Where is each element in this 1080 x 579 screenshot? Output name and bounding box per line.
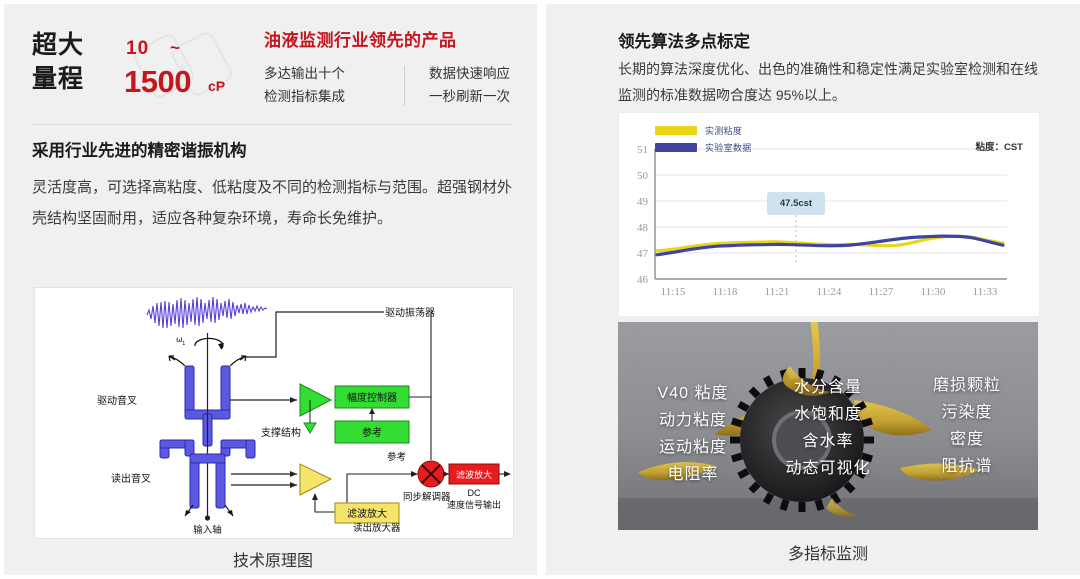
svg-text:11:18: 11:18 (713, 286, 738, 298)
sync-demodulator-label: 同步解调器 (403, 491, 451, 503)
product-tagline: 油液监测行业领先的产品 (264, 26, 544, 51)
legend-item-measured: 实测粘度 (655, 123, 752, 137)
overlay-c1-item-2: 运动粘度 (628, 434, 758, 461)
chart-annotation-tooltip: 47.5cst (767, 192, 825, 215)
left-panel: 超大 量程 10 ~ 1500 cP 油液监测行业领先的产品 (4, 4, 537, 575)
svg-text:11:27: 11:27 (869, 286, 894, 298)
reference-line-label: 参考 (387, 451, 406, 463)
chart-legend: 实测粘度 实验室数据 (655, 123, 752, 157)
overlay-c1-item-3: 电阻率 (628, 461, 758, 488)
overlay-c3-item-1: 污染度 (906, 399, 1028, 426)
header-feature-columns: 多达输出十个 检测指标集成 数据快速响应 一秒刷新一次 (264, 62, 544, 110)
range-unit: cP (208, 78, 225, 94)
range-max-value: 1500 (124, 64, 191, 100)
overlay-c2-item-3: 动态可视化 (758, 455, 898, 482)
svg-text:1: 1 (182, 341, 186, 347)
photo-caption: 多指标监测 (618, 540, 1038, 564)
section-body: 灵活度高，可选择高粘度、低粘度及不同的检测指标与范围。超强钢材外壳结构坚固耐用，… (32, 172, 516, 234)
feature-column-2: 数据快速响应 一秒刷新一次 (429, 62, 510, 108)
legend-label-measured: 实测粘度 (705, 124, 742, 137)
overlay-c1-item-0: V40 粘度 (628, 380, 758, 407)
legend-item-lab: 实验室数据 (655, 140, 752, 154)
chart-unit-label: 粘度：CST (975, 139, 1023, 153)
overlay-column-3: 磨损颗粒 污染度 密度 阻抗谱 (906, 372, 1028, 480)
overlay-column-2: 水分含量 水饱和度 含水率 动态可视化 (758, 374, 898, 482)
support-structure-label: 支撑结构 (261, 426, 301, 439)
filter-amp-red-label: 滤波放大 (456, 469, 492, 480)
svg-text:11:33: 11:33 (973, 286, 998, 298)
technical-principle-diagram: ω 1 (34, 287, 514, 539)
svg-text:11:30: 11:30 (921, 286, 946, 298)
drive-oscillator-label: 驱动振荡器 (385, 306, 435, 319)
overlay-column-1: V40 粘度 动力粘度 运动粘度 电阻率 (628, 380, 758, 488)
reference-box: 参考 (335, 421, 409, 443)
feature-2-line1: 数据快速响应 (429, 62, 510, 85)
svg-text:49: 49 (637, 196, 649, 208)
dc-label-line1: DC (468, 488, 481, 498)
overlay-c2-item-0: 水分含量 (758, 374, 898, 401)
overlay-c1-item-1: 动力粘度 (628, 407, 758, 434)
readout-amplifier-label: 读出放大器 (353, 522, 401, 534)
legend-swatch-lab (655, 143, 697, 152)
svg-text:11:15: 11:15 (661, 286, 686, 298)
right-section-title: 领先算法多点标定 (618, 28, 750, 52)
input-shaft-label: 输入轴 (193, 524, 222, 536)
range-min-value: 10 (126, 38, 149, 60)
amplitude-controller-box: 幅度控制器 (335, 386, 409, 408)
filter-amp-yellow-label: 滤波放大 (347, 507, 387, 520)
svg-text:48: 48 (637, 222, 649, 234)
header-rule (32, 124, 512, 125)
viscosity-chart-card: 464748495051 11:1511:1811:2111:2411:2711… (618, 112, 1040, 317)
range-header-label: 超大 量程 (32, 28, 118, 96)
reference-box-label: 参考 (362, 426, 382, 439)
feature-column-1: 多达输出十个 检测指标集成 (264, 62, 345, 108)
feature-divider (404, 66, 405, 106)
multi-index-photo: V40 粘度 动力粘度 运动粘度 电阻率 水分含量 水饱和度 含水率 动态可视化… (618, 322, 1038, 530)
svg-text:50: 50 (637, 170, 649, 182)
drive-tuning-fork-label: 驱动音叉 (97, 394, 137, 407)
range-label-line1: 超大 (32, 28, 118, 62)
overlay-c3-item-3: 阻抗谱 (906, 453, 1028, 480)
range-header: 超大 量程 10 ~ 1500 cP 油液监测行业领先的产品 (32, 26, 512, 114)
amplitude-controller-label: 幅度控制器 (347, 391, 397, 404)
range-tilde: ~ (170, 38, 180, 58)
svg-text:11:24: 11:24 (817, 286, 842, 298)
feature-1-line1: 多达输出十个 (264, 62, 345, 85)
filter-amplifier-yellow-box: 滤波放大 (335, 503, 399, 523)
dc-label-line2: 速度信号输出 (447, 499, 501, 510)
header-text-group: 油液监测行业领先的产品 多达输出十个 检测指标集成 数据快速响应 一秒刷新一次 (264, 26, 544, 110)
feature-1-line2: 检测指标集成 (264, 85, 345, 108)
readout-tuning-fork-label: 读出音叉 (111, 472, 151, 485)
page-root: 超大 量程 10 ~ 1500 cP 油液监测行业领先的产品 (0, 0, 1080, 579)
sync-demodulator-circle (418, 461, 444, 487)
legend-label-lab: 实验室数据 (705, 141, 752, 154)
feature-2-line2: 一秒刷新一次 (429, 85, 510, 108)
overlay-c3-item-0: 磨损颗粒 (906, 372, 1028, 399)
diagram-caption: 技术原理图 (34, 547, 512, 571)
svg-text:51: 51 (637, 144, 648, 156)
svg-text:11:21: 11:21 (765, 286, 790, 298)
section-title: 采用行业先进的精密谐振机构 (32, 137, 247, 161)
range-label-line2: 量程 (32, 62, 118, 96)
svg-text:47: 47 (637, 248, 649, 260)
legend-swatch-measured (655, 126, 697, 135)
range-value-group: 10 ~ 1500 cP (124, 26, 242, 106)
filter-amplifier-red-box: 滤波放大 (449, 464, 499, 484)
right-section-body: 长期的算法深度优化、出色的准确性和稳定性满足实验室检测和在线监测的标准数据吻合度… (618, 56, 1038, 108)
svg-text:46: 46 (637, 274, 649, 286)
overlay-c2-item-1: 水饱和度 (758, 401, 898, 428)
diagram-svg: ω 1 (35, 288, 513, 538)
overlay-c2-item-2: 含水率 (758, 428, 898, 455)
overlay-c3-item-2: 密度 (906, 426, 1028, 453)
